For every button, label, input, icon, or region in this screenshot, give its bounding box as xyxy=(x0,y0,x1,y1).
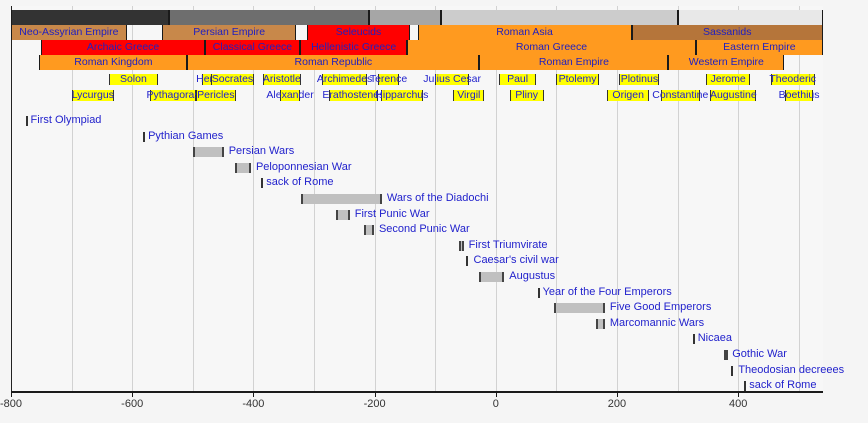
event-label: Gothic War xyxy=(732,349,787,360)
axis-tick-label: -600 xyxy=(121,398,143,410)
era-band: Neo-Assyrian Empire xyxy=(11,25,127,40)
axis-tick-label: 0 xyxy=(493,398,499,410)
axis-tick xyxy=(375,391,376,397)
event-bar xyxy=(301,194,382,204)
event-bar xyxy=(26,116,28,126)
event-bar xyxy=(744,381,746,391)
era-band: Archaic Greece xyxy=(41,40,205,55)
person-label: Pericles xyxy=(197,90,234,101)
person-label: Julius Cesar xyxy=(423,74,481,85)
era-band: Seleucids xyxy=(307,25,411,40)
era-band: Eastern Empire xyxy=(696,40,823,55)
event-bar xyxy=(193,147,223,157)
person-label: Origen xyxy=(612,90,644,101)
era-band: Roman Greece xyxy=(407,40,695,55)
event-label: sack of Rome xyxy=(266,177,333,188)
person-label: Jerome xyxy=(711,74,746,85)
event-label: Pythian Games xyxy=(148,131,223,142)
grayscale-band-segment xyxy=(441,10,677,25)
event-label: Year of the Four Emperors xyxy=(543,287,672,298)
gridline xyxy=(799,6,800,392)
event-bar xyxy=(731,366,733,376)
event-label: Five Good Emperors xyxy=(610,302,711,313)
event-bar xyxy=(336,210,350,220)
event-label: Wars of the Diadochi xyxy=(387,193,489,204)
axis-tick-label: -200 xyxy=(364,398,386,410)
person-label: Pythagoras xyxy=(147,90,200,101)
grayscale-band-segment xyxy=(11,10,169,25)
axis-tick xyxy=(617,391,618,397)
event-bar xyxy=(596,319,604,329)
era-band: Persian Empire xyxy=(162,25,295,40)
event-bar xyxy=(724,350,728,360)
person-label: Terence xyxy=(370,74,407,85)
grayscale-band-segment xyxy=(169,10,369,25)
event-label: First Triumvirate xyxy=(469,240,548,251)
axis-tick-label: -400 xyxy=(242,398,264,410)
axis-tick xyxy=(132,391,133,397)
axis-tick xyxy=(11,391,12,397)
axis-tick xyxy=(738,391,739,397)
event-bar xyxy=(538,288,540,298)
event-label: Theodosian decreees xyxy=(738,365,844,376)
person-label: Constantine xyxy=(652,90,708,101)
axis-tick xyxy=(253,391,254,397)
gridline xyxy=(11,6,12,392)
era-band: Classical Greece xyxy=(205,40,300,55)
timeline-chart: Neo-Assyrian EmpirePersian EmpireSeleuci… xyxy=(0,0,868,423)
event-label: First Punic War xyxy=(355,209,430,220)
person-label: Alexander xyxy=(266,90,313,101)
event-bar xyxy=(364,225,374,235)
axis-tick-label: 200 xyxy=(608,398,626,410)
axis-tick xyxy=(496,391,497,397)
person-label: Theoderic xyxy=(769,74,816,85)
event-label: Caesar's civil war xyxy=(474,255,559,266)
person-label: Plotinus xyxy=(621,74,658,85)
event-label: Second Punic War xyxy=(379,224,470,235)
person-label: Aristotle xyxy=(263,74,301,85)
event-bar xyxy=(261,178,263,188)
person-label: Hipparchus xyxy=(375,90,428,101)
event-bar xyxy=(693,334,695,344)
person-label: Archimedes xyxy=(317,74,372,85)
person-label: Augustine xyxy=(710,90,757,101)
axis-tick-label: 400 xyxy=(729,398,747,410)
era-band: Hellenistic Greece xyxy=(300,40,407,55)
event-label: Persian Wars xyxy=(229,146,295,157)
person-label: Virgil xyxy=(457,90,480,101)
era-band: Western Empire xyxy=(668,55,784,70)
person-label: Socrates xyxy=(212,74,253,85)
person-label: Boethius xyxy=(779,90,820,101)
event-label: Peloponnesian War xyxy=(256,162,352,173)
era-band: Roman Republic xyxy=(187,55,479,70)
event-bar xyxy=(466,256,468,266)
event-bar xyxy=(143,132,145,142)
person-label: Pliny xyxy=(515,90,538,101)
event-label: Marcomannic Wars xyxy=(610,318,704,329)
event-bar xyxy=(459,241,463,251)
event-label: First Olympiad xyxy=(31,115,102,126)
grayscale-band-segment xyxy=(678,10,823,25)
event-bar xyxy=(479,272,504,282)
person-label: Ptolemy xyxy=(559,74,597,85)
axis-tick-label: -800 xyxy=(0,398,22,410)
era-band: Roman Kingdom xyxy=(39,55,187,70)
person-label: Lycurgus xyxy=(72,90,114,101)
event-label: Augustus xyxy=(509,271,555,282)
era-band: Roman Empire xyxy=(479,55,668,70)
person-label: Paul xyxy=(507,74,528,85)
event-bar xyxy=(235,163,251,173)
era-band: Sassanids xyxy=(632,25,823,40)
era-band: Roman Asia xyxy=(418,25,632,40)
event-label: sack of Rome xyxy=(749,380,816,391)
grayscale-band-segment xyxy=(369,10,442,25)
person-label: Solon xyxy=(120,74,147,85)
event-bar xyxy=(554,303,605,313)
event-label: Nicaea xyxy=(698,333,732,344)
